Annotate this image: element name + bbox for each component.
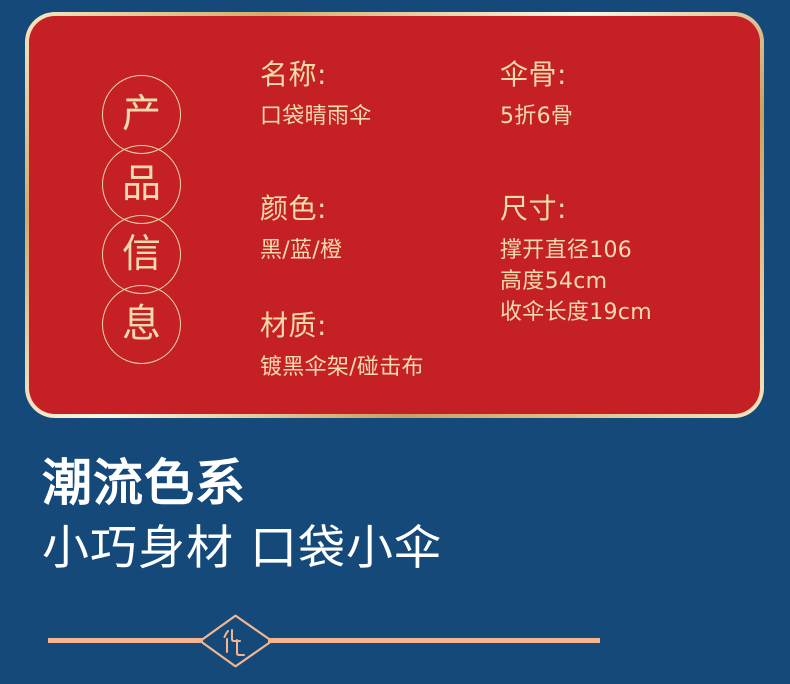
spec-value-color-line-1: 黑/蓝/橙 xyxy=(260,235,342,266)
decorative-divider xyxy=(48,613,600,673)
product-info-badge: 产 品 信 息 xyxy=(100,75,184,365)
spec-label-color: 颜色: xyxy=(260,191,342,227)
badge-char-3: 信 xyxy=(122,235,161,274)
product-info-card-body: 产 品 信 息 名称: 口袋晴雨伞 颜色: 黑/蓝 xyxy=(29,16,760,414)
spec-value-color: 黑/蓝/橙 xyxy=(260,235,342,266)
spec-value-name-line-1: 口袋晴雨伞 xyxy=(260,101,372,132)
divider-line-left xyxy=(48,638,203,643)
badge-char-4: 息 xyxy=(122,305,161,344)
headline-secondary: 小巧身材 口袋小伞 xyxy=(42,521,742,577)
spec-group-color: 颜色: 黑/蓝/橙 xyxy=(260,191,342,266)
spec-value-ribs-line-1: 5折6骨 xyxy=(500,101,573,132)
spec-value-material: 镀黑伞架/碰击布 xyxy=(260,352,424,383)
spec-group-material: 材质: 镀黑伞架/碰击布 xyxy=(260,308,424,383)
badge-circle-2: 品 xyxy=(102,145,181,224)
spec-label-ribs: 伞骨: xyxy=(500,57,573,93)
spec-value-size-line-3: 收伞长度19cm xyxy=(500,297,652,328)
diamond-monogram-icon xyxy=(198,613,274,669)
spec-value-size-line-2: 高度54cm xyxy=(500,266,652,297)
badge-circle-1: 产 xyxy=(102,75,181,154)
badge-circle-4: 息 xyxy=(102,285,181,364)
spec-group-ribs: 伞骨: 5折6骨 xyxy=(500,57,573,132)
spec-value-name: 口袋晴雨伞 xyxy=(260,101,372,132)
spec-label-material: 材质: xyxy=(260,308,424,344)
headline-primary: 潮流色系 xyxy=(42,455,742,511)
divider-line-right xyxy=(268,638,600,643)
spec-label-name: 名称: xyxy=(260,57,372,93)
product-info-card: 产 品 信 息 名称: 口袋晴雨伞 颜色: 黑/蓝 xyxy=(25,12,764,418)
spec-group-size: 尺寸: 撑开直径106 高度54cm 收伞长度19cm xyxy=(500,191,652,329)
spec-value-material-line-1: 镀黑伞架/碰击布 xyxy=(260,352,424,383)
badge-circle-3: 信 xyxy=(102,215,181,294)
footer-headline-block: 潮流色系 小巧身材 口袋小伞 xyxy=(42,455,742,577)
spec-label-size: 尺寸: xyxy=(500,191,652,227)
spec-group-name: 名称: 口袋晴雨伞 xyxy=(260,57,372,132)
badge-char-2: 品 xyxy=(122,165,161,204)
spec-value-size-line-1: 撑开直径106 xyxy=(500,235,652,266)
badge-char-1: 产 xyxy=(122,95,161,134)
spec-value-size: 撑开直径106 高度54cm 收伞长度19cm xyxy=(500,235,652,329)
spec-value-ribs: 5折6骨 xyxy=(500,101,573,132)
